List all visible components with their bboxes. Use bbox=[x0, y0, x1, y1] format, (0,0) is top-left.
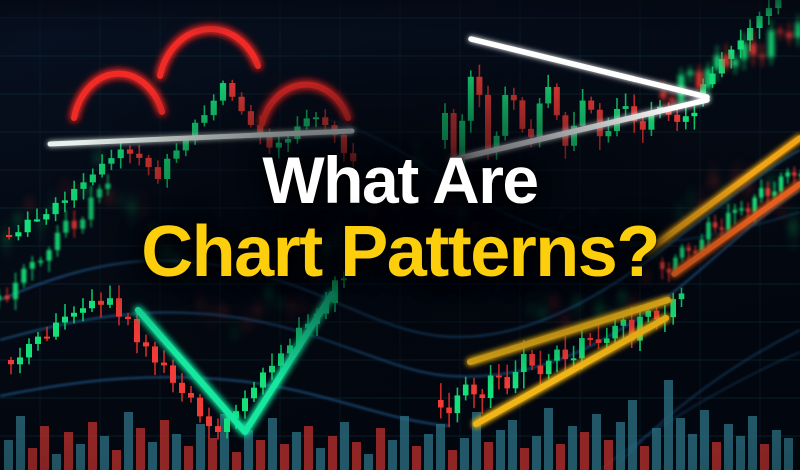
pattern-annotations-layer bbox=[0, 0, 800, 470]
head-and-shoulders-arcs bbox=[74, 29, 348, 124]
symmetrical-triangle-lines bbox=[452, 39, 707, 160]
v-bottom-reversal-line bbox=[138, 294, 332, 432]
triangle-upper-trendline bbox=[471, 39, 707, 97]
ascending-channel-lines bbox=[470, 300, 668, 424]
left-shoulder-arc bbox=[74, 74, 162, 118]
rising-channel-upper bbox=[646, 138, 800, 252]
right-shoulder-arc bbox=[262, 85, 348, 124]
neckline-group bbox=[50, 131, 352, 144]
head-arc bbox=[160, 29, 258, 76]
rising-channel-lower bbox=[674, 184, 800, 274]
thumbnail-canvas: What Are Chart Patterns? bbox=[0, 0, 800, 470]
channel-lower-trendline bbox=[476, 318, 666, 424]
neckline bbox=[50, 131, 352, 144]
rising-channel-lines bbox=[646, 138, 800, 274]
triangle-lower-trendline bbox=[452, 100, 707, 160]
